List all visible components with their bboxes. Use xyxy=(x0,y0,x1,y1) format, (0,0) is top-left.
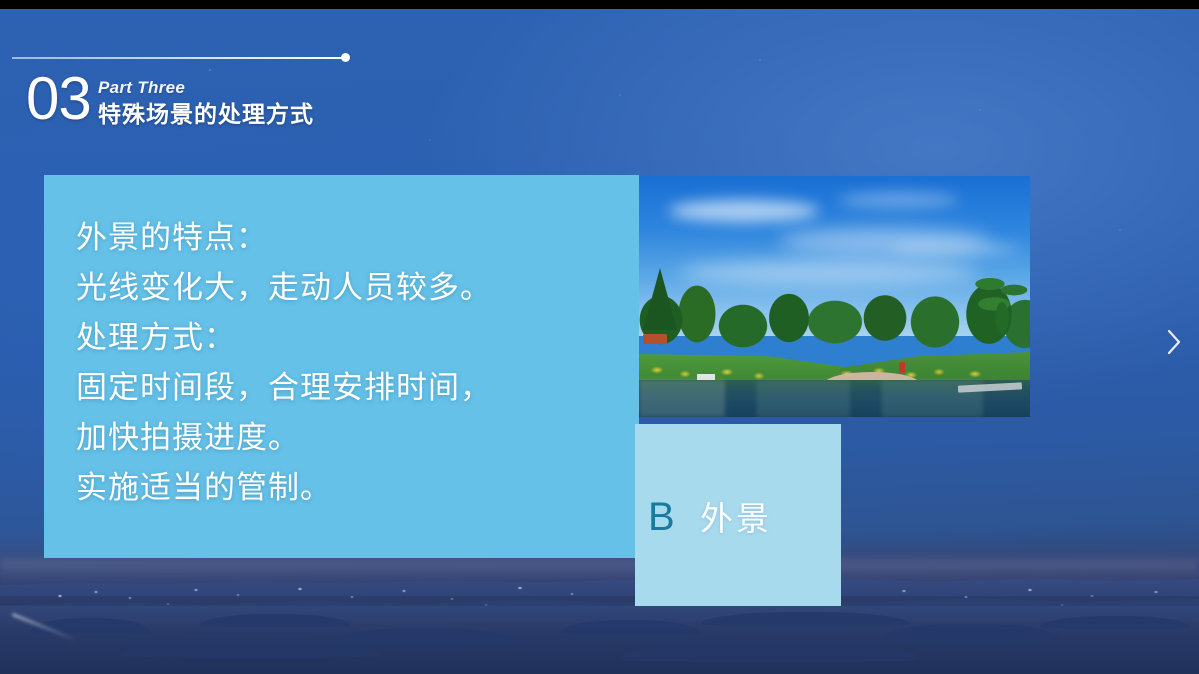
header-rule xyxy=(12,57,345,59)
section-eyebrow: Part Three xyxy=(98,78,185,98)
content-body-text: 外景的特点： 光线变化大，走动人员较多。 处理方式： 固定时间段，合理安排时间，… xyxy=(76,213,596,513)
chevron-right-icon xyxy=(1166,328,1182,356)
photo-palm-tree xyxy=(974,274,1028,352)
next-slide-button[interactable] xyxy=(1157,322,1191,362)
photo-cloud xyxy=(679,260,979,284)
header-rule-end-dot xyxy=(341,53,350,62)
photo-building-roof xyxy=(643,334,667,344)
photo-cloud xyxy=(669,200,819,222)
label-letter: B xyxy=(648,495,675,539)
photo-cloud xyxy=(889,242,1019,256)
nightscape-islands xyxy=(0,608,1199,674)
top-letterbox-bar xyxy=(0,0,1199,9)
photo-conifer-tree xyxy=(643,268,677,330)
page-title: 特殊场景的处理方式 xyxy=(98,100,314,128)
label-title: 外景 xyxy=(700,498,772,540)
photo-cloud xyxy=(839,192,959,208)
outdoor-scene-photo xyxy=(639,176,1030,417)
photo-person xyxy=(899,362,905,373)
section-number: 03 xyxy=(26,70,91,128)
presentation-slide: 03 Part Three 特殊场景的处理方式 外景的特点： 光线变化大，走动人… xyxy=(0,0,1199,674)
